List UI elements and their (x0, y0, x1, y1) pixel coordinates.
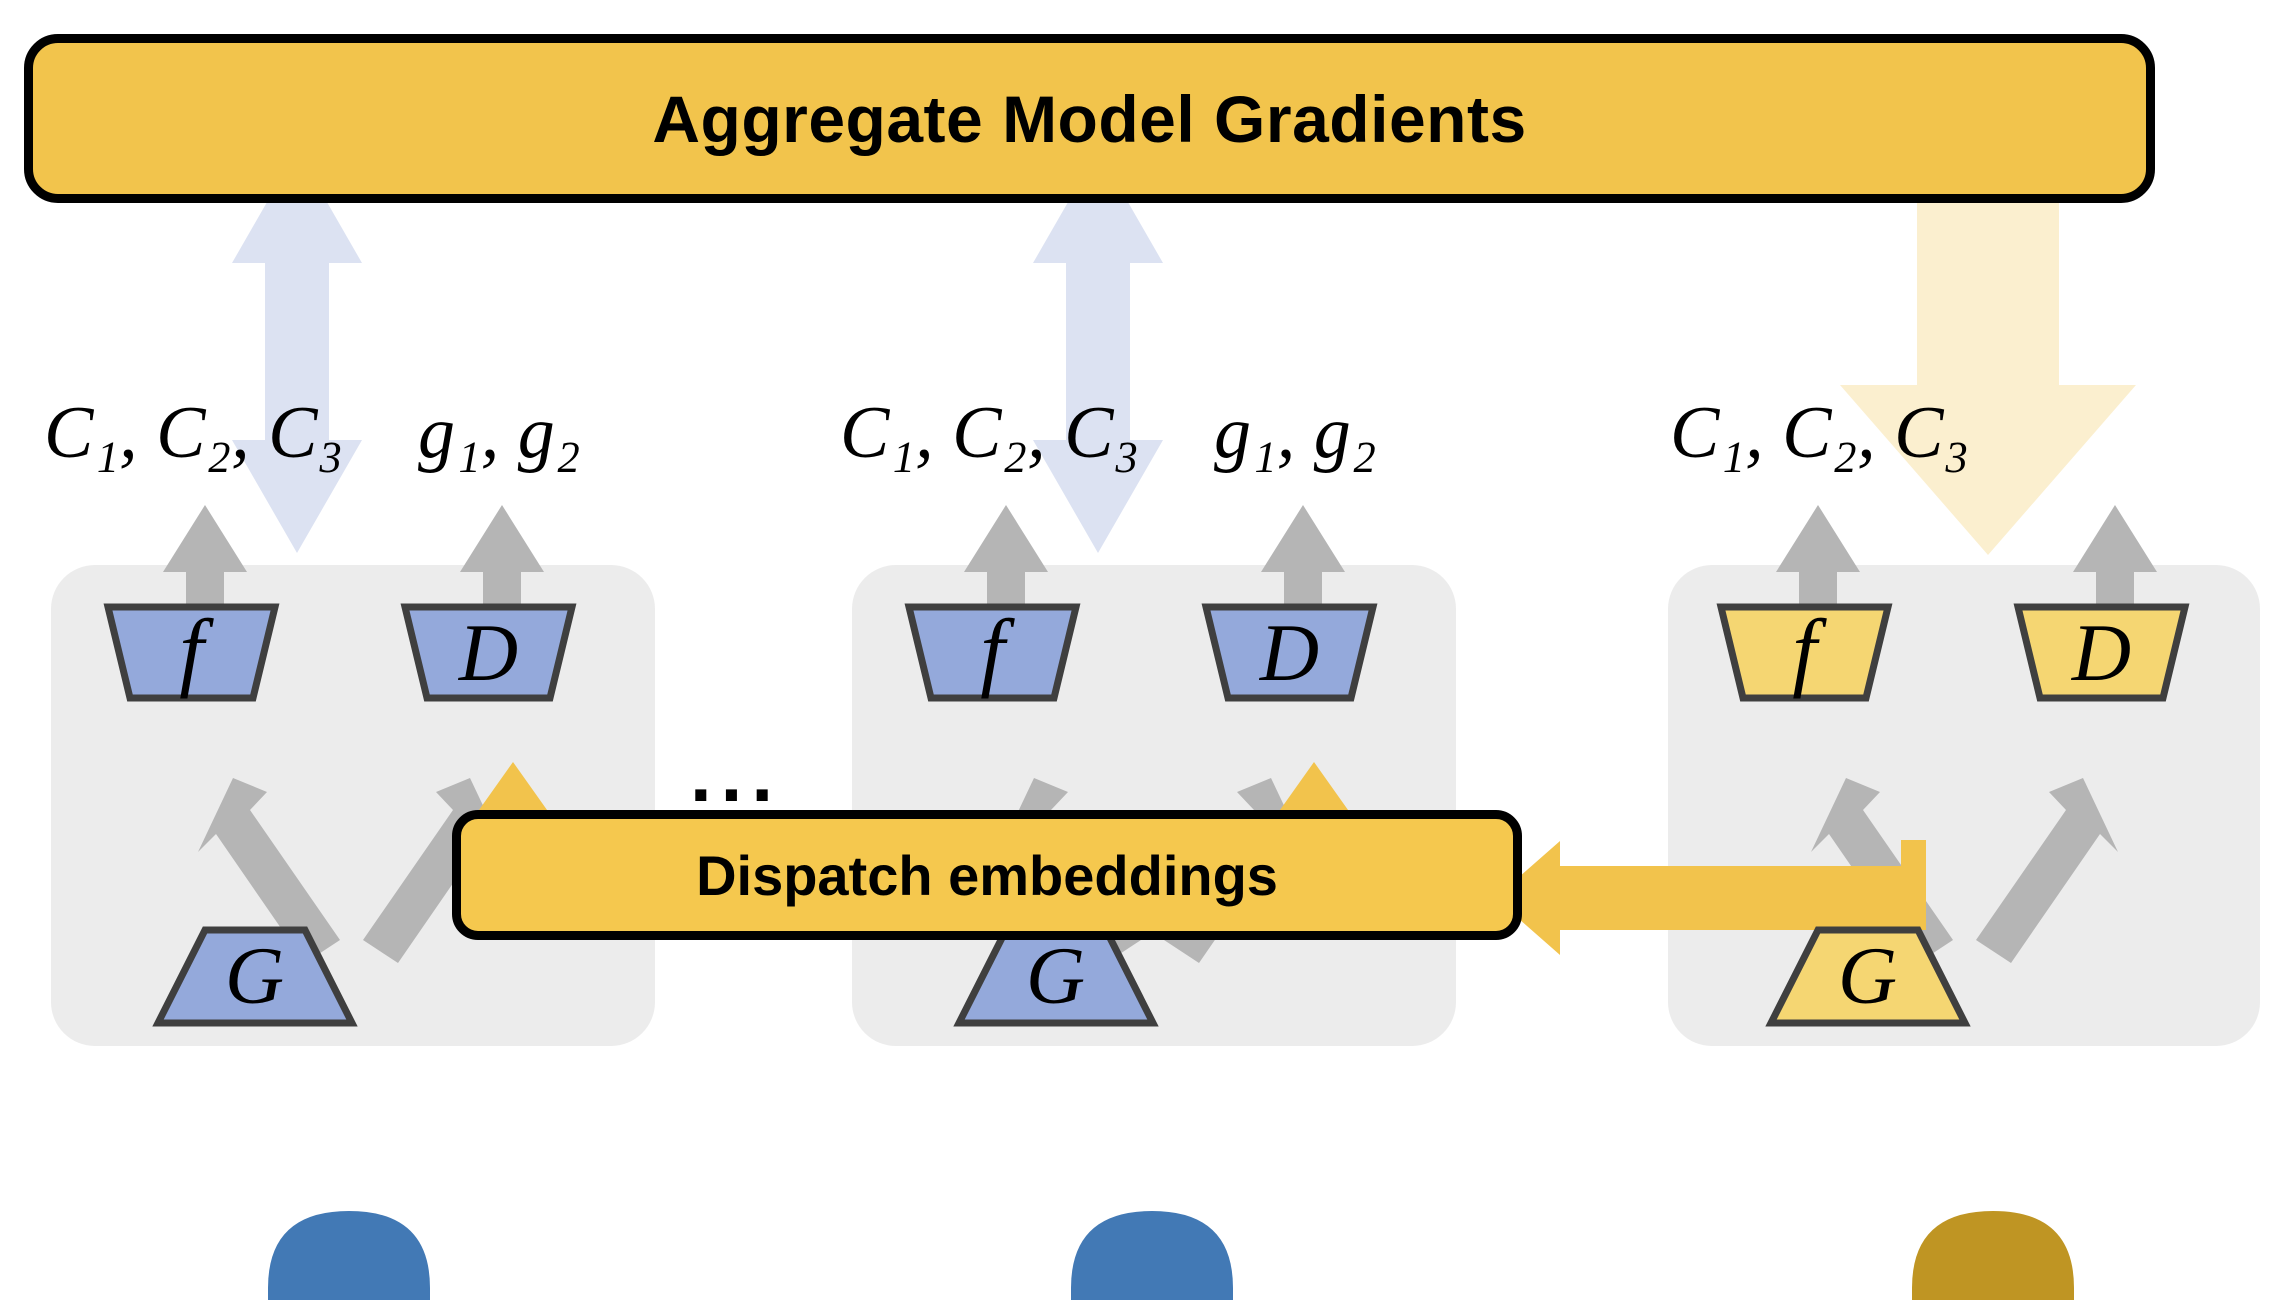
module-f[interactable] (909, 607, 1076, 698)
module-f[interactable] (1721, 607, 1888, 698)
dispatch-bar-label: Dispatch embeddings (696, 843, 1278, 908)
module-d[interactable] (405, 607, 572, 698)
dispatch-embeddings-bar[interactable]: Dispatch embeddings (452, 810, 1522, 940)
output-label-generator-2: g₁, g₂ (1214, 396, 1376, 470)
module-f[interactable] (108, 607, 275, 698)
module-g[interactable] (158, 930, 352, 1023)
module-d[interactable] (2018, 607, 2185, 698)
output-label-classifier-3: C₁, C₂, C₃ (1670, 396, 1969, 470)
client-3-modules (1721, 607, 2185, 1023)
aggregate-banner-label: Aggregate Model Gradients (652, 81, 1526, 157)
output-label-generator-1: g₁, g₂ (418, 396, 580, 470)
output-label-classifier-1: C₁, C₂, C₃ (44, 396, 343, 470)
module-d[interactable] (1206, 607, 1373, 698)
more-clients-ellipsis: ... (690, 735, 782, 813)
module-g[interactable] (1771, 930, 1965, 1023)
output-label-classifier-2: C₁, C₂, C₃ (840, 396, 1139, 470)
aggregate-model-gradients-banner[interactable]: Aggregate Model Gradients (24, 34, 2155, 203)
module-g[interactable] (959, 930, 1153, 1023)
diagram-canvas: f D G f D G f D G C₁, C₂, C₃ g₁, g₂ C₁, … (0, 0, 2296, 1300)
